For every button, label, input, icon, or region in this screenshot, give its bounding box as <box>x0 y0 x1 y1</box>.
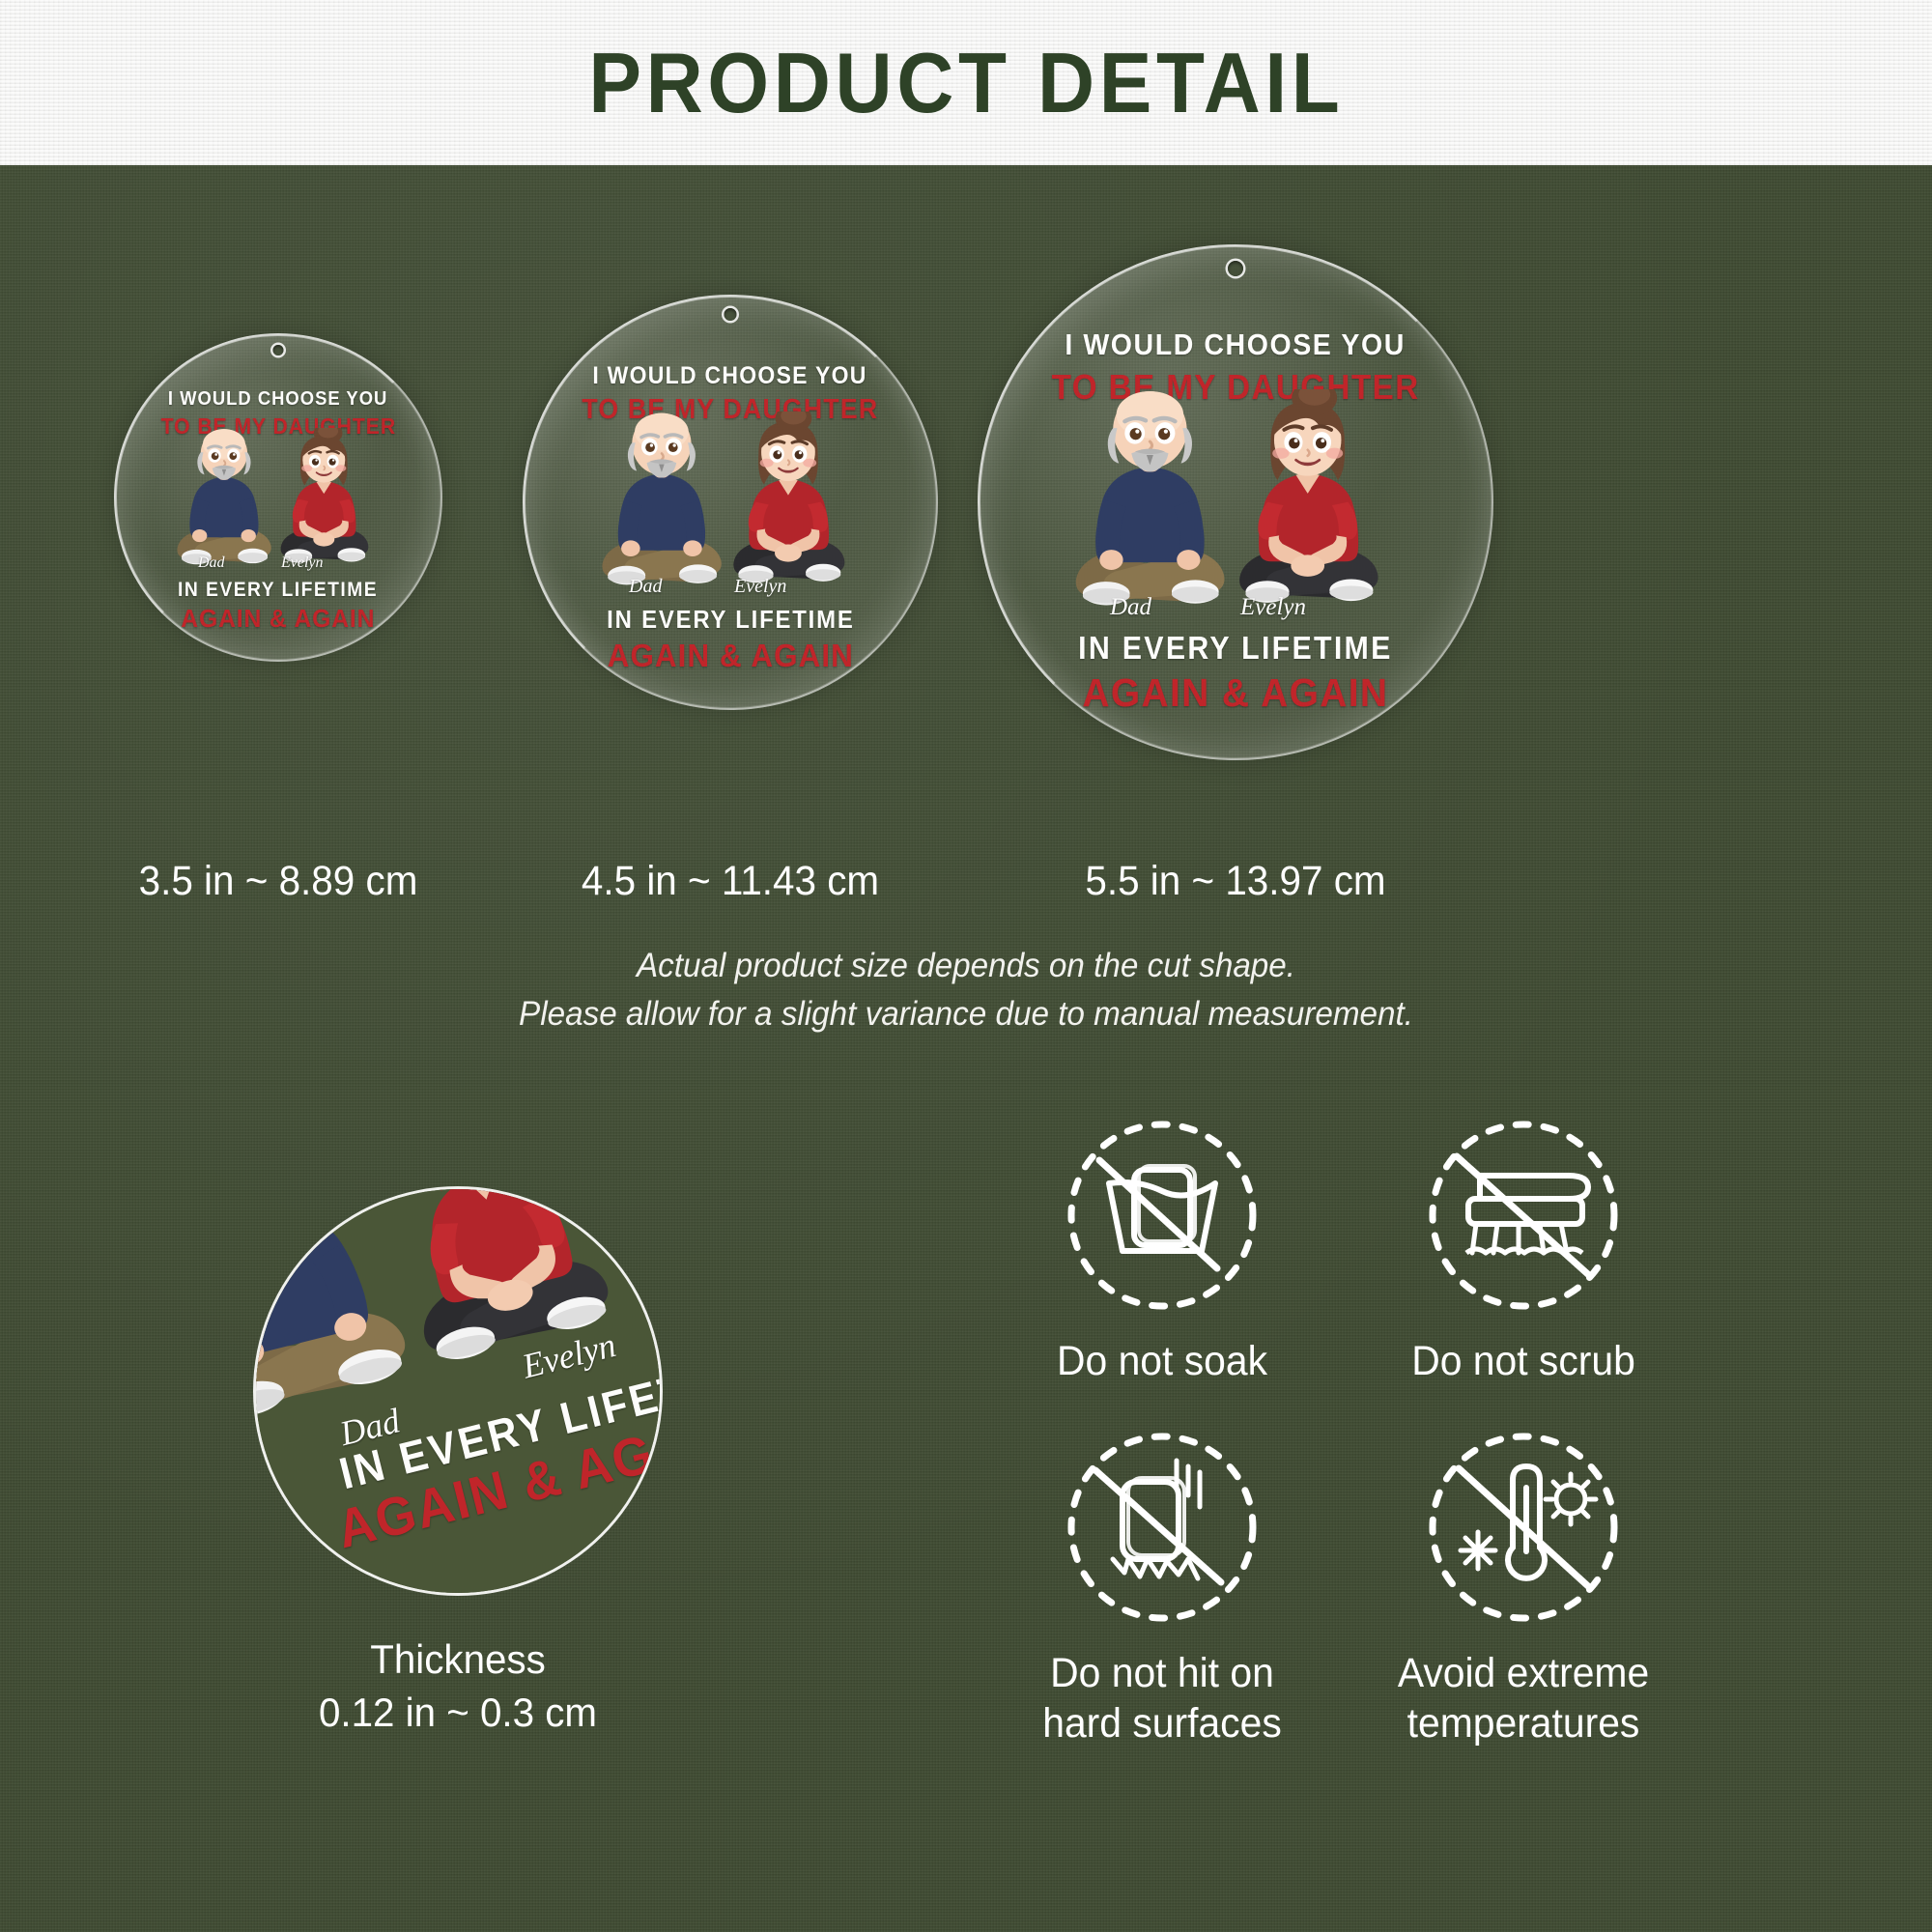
size-disclaimer: Actual product size depends on the cut s… <box>48 942 1884 1037</box>
name-left: Dad <box>198 554 225 572</box>
name-right: Evelyn <box>734 576 786 598</box>
ornament-preview-large: I WOULD CHOOSE YOU TO BE MY DAUGHTER Dad… <box>978 244 1493 760</box>
couple-illustration <box>597 431 864 572</box>
no-hit-icon <box>1063 1428 1262 1627</box>
no-scrub-icon <box>1424 1116 1623 1315</box>
design-line-3: IN EVERY LIFETIME <box>1078 630 1392 667</box>
thickness-disc-face: Dad Evelyn IN EVERY LIFETIME AGAIN & AGA… <box>253 1186 663 1596</box>
disclaimer-line-1: Actual product size depends on the cut s… <box>48 942 1884 990</box>
ornament-artwork-medium: I WOULD CHOOSE YOU TO BE MY DAUGHTER Dad… <box>523 295 938 710</box>
thickness-caption: Thickness 0.12 in ~ 0.3 cm <box>261 1633 654 1740</box>
disclaimer-line-2: Please allow for a slight variance due t… <box>48 990 1884 1038</box>
thickness-value: 0.12 in ~ 0.3 cm <box>261 1686 654 1739</box>
design-line-4: AGAIN & AGAIN <box>181 604 375 634</box>
no-soak-icon <box>1063 1116 1262 1315</box>
care-label-no-temp: Avoid extreme temperatures <box>1358 1648 1689 1749</box>
care-label-no-soak: Do not soak <box>997 1336 1327 1386</box>
couple-illustration <box>173 443 384 552</box>
ornament-artwork-large: I WOULD CHOOSE YOU TO BE MY DAUGHTER Dad… <box>978 244 1493 760</box>
design-line-3: IN EVERY LIFETIME <box>178 579 378 602</box>
care-item-no-hit: Do not hit on hard surfaces <box>988 1428 1336 1749</box>
page-title: PRODUCT DETAIL <box>588 34 1344 132</box>
couple-illustration <box>1069 413 1402 589</box>
design-line-3: IN EVERY LIFETIME <box>607 605 854 635</box>
size-label-medium: 4.5 in ~ 11.43 cm <box>549 858 912 905</box>
name-left: Dad <box>1110 594 1151 621</box>
name-right: Evelyn <box>281 554 324 572</box>
care-label-no-hit: Do not hit on hard surfaces <box>997 1648 1327 1749</box>
size-label-large: 5.5 in ~ 13.97 cm <box>1054 858 1417 905</box>
design-line-1: I WOULD CHOOSE YOU <box>593 362 867 390</box>
care-item-no-scrub: Do not scrub <box>1350 1116 1697 1386</box>
ornament-preview-medium: I WOULD CHOOSE YOU TO BE MY DAUGHTER Dad… <box>523 295 938 710</box>
thermometer-icon <box>1424 1428 1623 1627</box>
name-right: Evelyn <box>1240 594 1306 621</box>
design-line-4: AGAIN & AGAIN <box>607 638 853 674</box>
care-item-no-soak: Do not soak <box>988 1116 1336 1386</box>
thickness-closeup: Dad Evelyn IN EVERY LIFETIME AGAIN & AGA… <box>253 1186 663 1596</box>
design-line-4: AGAIN & AGAIN <box>1082 670 1388 716</box>
ornament-artwork-small: I WOULD CHOOSE YOU TO BE MY DAUGHTER Dad… <box>114 333 442 662</box>
ornament-preview-small: I WOULD CHOOSE YOU TO BE MY DAUGHTER Dad… <box>114 333 442 662</box>
design-line-1: I WOULD CHOOSE YOU <box>1065 327 1406 362</box>
name-left: Dad <box>629 576 662 598</box>
design-line-1: I WOULD CHOOSE YOU <box>168 388 387 411</box>
thickness-title: Thickness <box>261 1633 654 1686</box>
header-banner: PRODUCT DETAIL <box>0 0 1932 165</box>
thickness-closeup-content: Dad Evelyn IN EVERY LIFETIME AGAIN & AGA… <box>253 1186 663 1596</box>
size-label-small: 3.5 in ~ 8.89 cm <box>97 858 460 905</box>
care-label-no-scrub: Do not scrub <box>1358 1336 1689 1386</box>
care-item-no-temp: Avoid extreme temperatures <box>1350 1428 1697 1749</box>
